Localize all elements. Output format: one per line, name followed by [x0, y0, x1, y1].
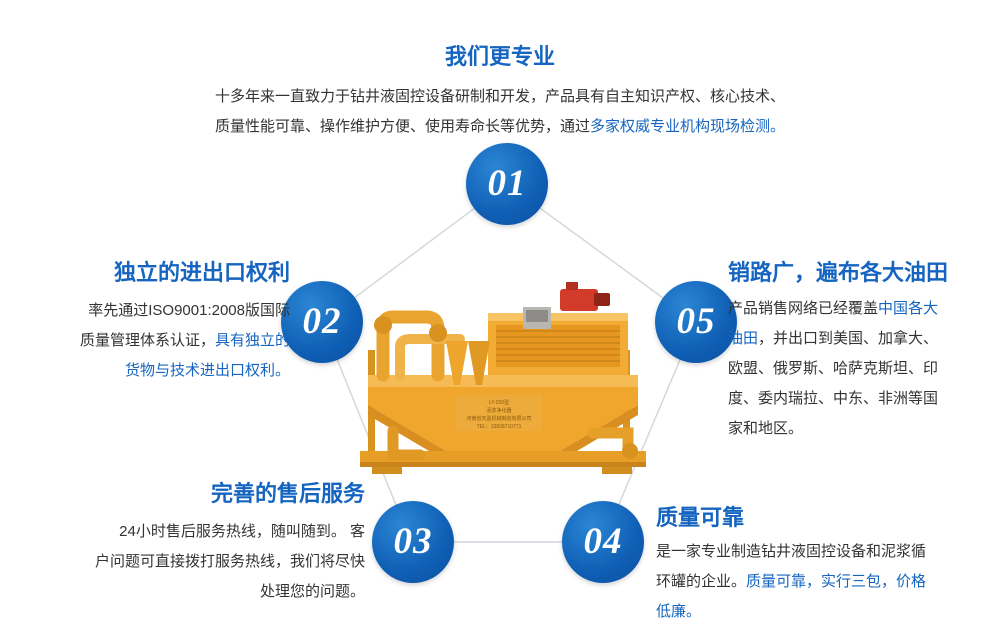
- feature-block-05: 销路广，遍布各大油田 产品销售网络已经覆盖中国各大 油田，并出口到美国、加拿大、…: [728, 260, 990, 444]
- svg-text:LY-200型: LY-200型: [489, 399, 509, 406]
- step-number-01: 01: [488, 162, 527, 205]
- feature-body-02: 率先通过ISO9001:2008版国际 质量管理体系认证，具有独立的 货物与技术…: [20, 296, 290, 386]
- feature-line: 度、委内瑞拉、中东、非洲等国: [728, 384, 990, 414]
- line-text: 度、委内瑞拉、中东、非洲等国: [728, 390, 938, 407]
- line-text: 质量性能可靠、操作维护方便、使用寿命长等优势，通过: [215, 118, 590, 135]
- feature-line: 24小时售后服务热线，随叫随到。 客: [20, 517, 365, 547]
- feature-line: 十多年来一直致力于钻井液固控设备研制和开发，产品具有自主知识产权、核心技术、: [150, 82, 850, 112]
- line-highlight: 油田: [728, 330, 758, 347]
- line-text: 家和地区。: [728, 420, 803, 437]
- feature-body-05: 产品销售网络已经覆盖中国各大 油田，并出口到美国、加拿大、 欧盟、俄罗斯、哈萨克…: [728, 294, 990, 444]
- line-text: 24小时售后服务热线，随叫随到。 客: [119, 523, 365, 540]
- feature-body-01: 十多年来一直致力于钻井液固控设备研制和开发，产品具有自主知识产权、核心技术、 质…: [150, 82, 850, 142]
- line-highlight: 多家权威专业机构现场检测。: [590, 118, 785, 135]
- line-text: 欧盟、俄罗斯、哈萨克斯坦、印: [728, 360, 938, 377]
- feature-title-02: 独立的进出口权利: [20, 260, 290, 286]
- infographic-stage: LY-200型 泥浆净化器 河南省天盈机械制造有限公司 TEL：13838710…: [0, 0, 1000, 642]
- line-highlight: 低廉。: [656, 603, 701, 620]
- feature-line: 家和地区。: [728, 414, 990, 444]
- line-text: 户问题可直接拨打服务热线，我们将尽快: [95, 553, 365, 570]
- feature-block-04: 质量可靠 是一家专业制造钻井液固控设备和泥浆循 环罐的企业。质量可靠，实行三包，…: [656, 505, 991, 627]
- line-text: 是一家专业制造钻井液固控设备和泥浆循: [656, 543, 926, 560]
- feature-line: 低廉。: [656, 597, 991, 627]
- step-number-04: 04: [584, 520, 623, 563]
- line-highlight: 中国各大: [878, 300, 938, 317]
- step-circle-04[interactable]: 04: [562, 501, 644, 583]
- feature-line: 环罐的企业。质量可靠，实行三包，价格: [656, 567, 991, 597]
- feature-line: 处理您的问题。: [20, 577, 365, 607]
- feature-line: 欧盟、俄罗斯、哈萨克斯坦、印: [728, 354, 990, 384]
- feature-line: 质量性能可靠、操作维护方便、使用寿命长等优势，通过多家权威专业机构现场检测。: [150, 112, 850, 142]
- svg-text:TEL：13838710771: TEL：13838710771: [477, 424, 522, 430]
- line-highlight: 质量可靠，实行三包，价格: [746, 573, 926, 590]
- line-highlight: 货物与技术进出口权利。: [125, 362, 290, 379]
- feature-body-04: 是一家专业制造钻井液固控设备和泥浆循 环罐的企业。质量可靠，实行三包，价格 低廉…: [656, 537, 991, 627]
- line-text: 十多年来一直致力于钻井液固控设备研制和开发，产品具有自主知识产权、核心技术、: [215, 88, 785, 105]
- feature-title-03: 完善的售后服务: [20, 481, 365, 507]
- feature-line: 产品销售网络已经覆盖中国各大: [728, 294, 990, 324]
- feature-line: 油田，并出口到美国、加拿大、: [728, 324, 990, 354]
- line-text: ，并出口到美国、加拿大、: [758, 330, 938, 347]
- line-text: 质量管理体系认证，: [80, 332, 215, 349]
- feature-title-05: 销路广，遍布各大油田: [728, 260, 990, 286]
- svg-text:河南省天盈机械制造有限公司: 河南省天盈机械制造有限公司: [466, 415, 531, 422]
- mud-recycling-machine-illustration: LY-200型 泥浆净化器 河南省天盈机械制造有限公司 TEL：13838710…: [338, 255, 668, 485]
- step-circle-02[interactable]: 02: [281, 281, 363, 363]
- feature-line: 质量管理体系认证，具有独立的: [20, 326, 290, 356]
- step-circle-03[interactable]: 03: [372, 501, 454, 583]
- step-number-03: 03: [394, 520, 433, 563]
- line-text: 产品销售网络已经覆盖: [728, 300, 878, 317]
- svg-text:泥浆净化器: 泥浆净化器: [486, 407, 511, 414]
- line-text: 环罐的企业。: [656, 573, 746, 590]
- line-highlight: 具有独立的: [215, 332, 290, 349]
- feature-block-01: 我们更专业 十多年来一直致力于钻井液固控设备研制和开发，产品具有自主知识产权、核…: [150, 44, 850, 142]
- feature-line: 率先通过ISO9001:2008版国际: [20, 296, 290, 326]
- feature-title-01: 我们更专业: [150, 44, 850, 70]
- feature-title-04: 质量可靠: [656, 505, 991, 531]
- feature-block-03: 完善的售后服务 24小时售后服务热线，随叫随到。 客 户问题可直接拨打服务热线，…: [20, 481, 365, 607]
- step-number-05: 05: [677, 300, 716, 343]
- line-text: 率先通过ISO9001:2008版国际: [88, 302, 290, 319]
- step-circle-05[interactable]: 05: [655, 281, 737, 363]
- feature-body-03: 24小时售后服务热线，随叫随到。 客 户问题可直接拨打服务热线，我们将尽快 处理…: [20, 517, 365, 607]
- line-text: 处理您的问题。: [260, 583, 365, 600]
- feature-line: 户问题可直接拨打服务热线，我们将尽快: [20, 547, 365, 577]
- feature-block-02: 独立的进出口权利 率先通过ISO9001:2008版国际 质量管理体系认证，具有…: [20, 260, 290, 386]
- step-circle-01[interactable]: 01: [466, 143, 548, 225]
- feature-line: 货物与技术进出口权利。: [20, 356, 290, 386]
- step-number-02: 02: [303, 300, 342, 343]
- feature-line: 是一家专业制造钻井液固控设备和泥浆循: [656, 537, 991, 567]
